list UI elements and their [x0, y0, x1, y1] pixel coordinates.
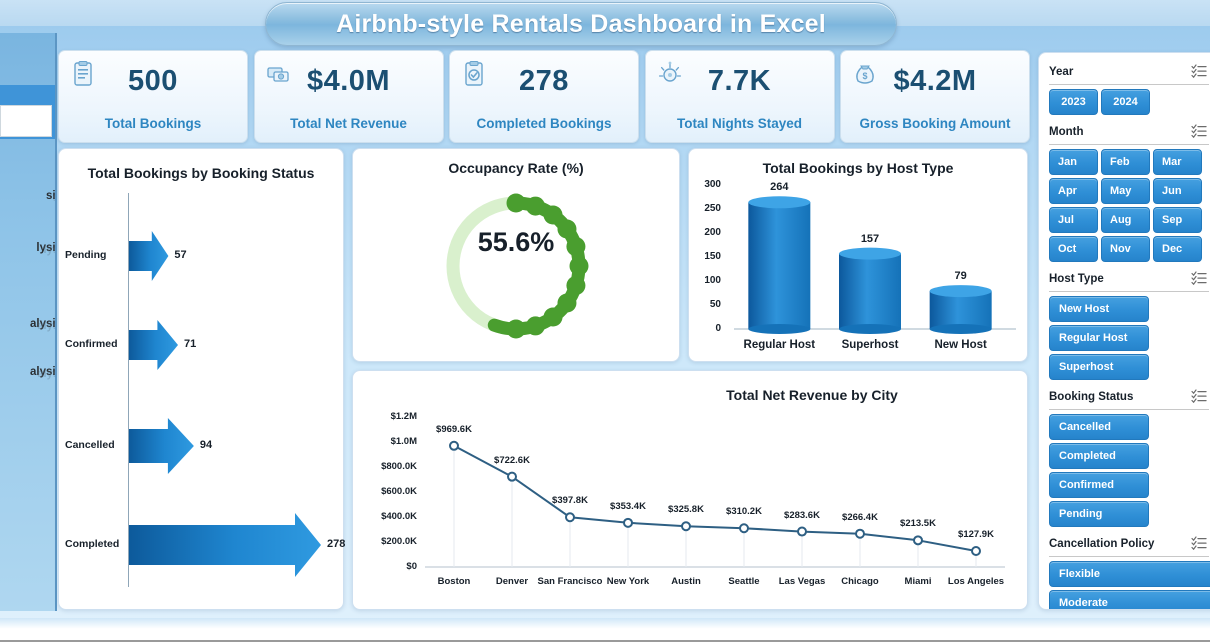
slicer-option-month-sep[interactable]: Sep	[1153, 207, 1202, 233]
host-ytick-0: 0	[689, 323, 721, 334]
sidebar-item-1-shadow: lysis	[8, 244, 57, 256]
kpi-label-1: Total Net Revenue	[255, 116, 443, 131]
slicer-option-month-jun[interactable]: Jun	[1153, 178, 1202, 204]
chart-occupancy-rate: Occupancy Rate (%) 55.6%	[352, 148, 680, 362]
slicer-header-month: Month	[1049, 121, 1210, 143]
slicer-option-month-nov[interactable]: Nov	[1101, 236, 1150, 262]
revenue-data-label-2: $397.8K	[538, 495, 602, 506]
revenue-xtick-9: Los Angeles	[940, 576, 1012, 587]
host-bar-category-2: New Host	[916, 339, 1006, 351]
revenue-ytick-0: $0	[359, 561, 417, 572]
status-bar-label-0: Pending	[65, 249, 125, 261]
status-bar-value-0: 57	[174, 249, 186, 261]
kpi-label-0: Total Bookings	[59, 116, 247, 131]
host-bar-value-1: 157	[838, 233, 902, 245]
revenue-ytick-1: $200.0K	[359, 536, 417, 547]
chart-title-occupancy-rate: Occupancy Rate (%)	[353, 160, 679, 176]
host-ytick-5: 250	[689, 203, 721, 214]
revenue-ytick-4: $800.0K	[359, 461, 417, 472]
host-ytick-4: 200	[689, 227, 721, 238]
status-bar-value-2: 94	[200, 439, 212, 451]
slicer-options-month: JanFebMarAprMayJunJulAugSepOctNovDec	[1049, 149, 1210, 262]
slicer-options-cancellation-policy: FlexibleModerateStrictSuper Strict	[1049, 561, 1210, 610]
revenue-data-label-4: $325.8K	[654, 504, 718, 515]
multi-select-icon[interactable]	[1191, 271, 1207, 285]
slicer-option-month-may[interactable]: May	[1101, 178, 1150, 204]
revenue-ytick-2: $400.0K	[359, 511, 417, 522]
revenue-data-label-9: $127.9K	[944, 529, 1008, 540]
revenue-data-label-5: $310.2K	[712, 506, 776, 517]
slicer-header-host-type: Host Type	[1049, 268, 1210, 290]
slicer-option-booking-status-cancelled[interactable]: Cancelled	[1049, 414, 1149, 440]
kpi-label-4: Gross Booking Amount	[841, 116, 1029, 131]
host-bar-category-0: Regular Host	[734, 339, 824, 351]
revenue-ytick-5: $1.0M	[359, 436, 417, 447]
slicer-option-month-jul[interactable]: Jul	[1049, 207, 1098, 233]
slicer-header-cancellation-policy: Cancellation Policy	[1049, 533, 1210, 555]
slicer-divider-year	[1049, 84, 1209, 85]
slicer-group-cancellation-policy: Cancellation PolicyFlexibleModerateStric…	[1049, 533, 1210, 610]
kpi-value-3: 7.7K	[646, 65, 834, 98]
left-sidebar: sis sis lysis lysis alysis alysis alysis…	[0, 33, 57, 611]
slicer-options-host-type: New HostRegular HostSuperhost	[1049, 296, 1210, 380]
slicer-title-booking-status: Booking Status	[1049, 391, 1133, 403]
status-bar-value-3: 278	[327, 538, 345, 550]
host-bar-value-2: 79	[929, 270, 993, 282]
host-ytick-6: 300	[689, 179, 721, 190]
kpi-value-1: $4.0M	[255, 65, 443, 98]
kpi-value-0: 500	[59, 65, 247, 98]
kpi-label-2: Completed Bookings	[450, 116, 638, 131]
sidebar-item-3-shadow: alysis	[8, 368, 57, 380]
slicer-divider-month	[1049, 144, 1209, 145]
slicer-option-month-feb[interactable]: Feb	[1101, 149, 1150, 175]
slicer-option-year-2023[interactable]: 2023	[1049, 89, 1098, 115]
occupancy-donut-ring	[427, 181, 605, 351]
slicer-option-booking-status-confirmed[interactable]: Confirmed	[1049, 472, 1149, 498]
host-ytick-2: 100	[689, 275, 721, 286]
slicer-group-booking-status: Booking StatusCancelledCompletedConfirme…	[1049, 386, 1210, 527]
kpi-card-completed-bookings[interactable]: 278Completed Bookings	[449, 50, 639, 143]
kpi-card-gross-booking-amount[interactable]: $$4.2MGross Booking Amount	[840, 50, 1030, 143]
slicer-header-year: Year	[1049, 61, 1210, 83]
occupancy-donut	[427, 181, 605, 356]
slicer-option-cancellation-policy-flexible[interactable]: Flexible	[1049, 561, 1210, 587]
slicer-option-month-oct[interactable]: Oct	[1049, 236, 1098, 262]
slicer-group-host-type: Host TypeNew HostRegular HostSuperhost	[1049, 268, 1210, 380]
kpi-value-4: $4.2M	[841, 65, 1029, 98]
revenue-ytick-3: $600.0K	[359, 486, 417, 497]
slicer-options-booking-status: CancelledCompletedConfirmedPending	[1049, 414, 1210, 527]
dashboard-root: sis sis lysis lysis alysis alysis alysis…	[0, 0, 1210, 642]
revenue-data-label-0: $969.6K	[422, 424, 486, 435]
sidebar-item-2-shadow: alysis	[8, 320, 57, 332]
multi-select-icon[interactable]	[1191, 389, 1207, 403]
slicer-divider-booking-status	[1049, 409, 1209, 410]
host-type-bars	[689, 149, 1029, 363]
slicer-divider-cancellation-policy	[1049, 556, 1209, 557]
kpi-card-row: 500Total Bookings$4.0MTotal Net Revenue2…	[58, 50, 1030, 143]
host-ytick-1: 50	[689, 299, 721, 310]
chart-bookings-by-status: Total Bookings by Booking Status Pending…	[58, 148, 344, 610]
slicer-panel: Year20232024MonthJanFebMarAprMayJunJulAu…	[1038, 52, 1210, 610]
slicer-options-year: 20232024	[1049, 89, 1210, 115]
status-bar-label-2: Cancelled	[65, 439, 125, 451]
status-bar-value-1: 71	[184, 338, 196, 350]
revenue-data-label-8: $213.5K	[886, 518, 950, 529]
multi-select-icon[interactable]	[1191, 124, 1207, 138]
occupancy-center-value: 55.6%	[353, 227, 679, 258]
slicer-title-host-type: Host Type	[1049, 273, 1104, 285]
sidebar-item-0-shadow: sis	[8, 192, 57, 204]
slicer-title-year: Year	[1049, 66, 1073, 78]
sidebar-selected-item[interactable]	[0, 105, 52, 137]
host-bar-category-1: Superhost	[825, 339, 915, 351]
kpi-value-2: 278	[450, 65, 638, 98]
slicer-option-cancellation-policy-moderate[interactable]: Moderate	[1049, 590, 1210, 610]
slicer-option-host-type-superhost[interactable]: Superhost	[1049, 354, 1149, 380]
revenue-ytick-6: $1.2M	[359, 411, 417, 422]
kpi-card-total-nights-stayed[interactable]: 7.7KTotal Nights Stayed	[645, 50, 835, 143]
kpi-card-total-bookings[interactable]: 500Total Bookings	[58, 50, 248, 143]
slicer-option-host-type-regular-host[interactable]: Regular Host	[1049, 325, 1149, 351]
kpi-card-total-net-revenue[interactable]: $4.0MTotal Net Revenue	[254, 50, 444, 143]
chart-bookings-by-host-type: Total Bookings by Host Type 050100150200…	[688, 148, 1028, 362]
slicer-option-host-type-new-host[interactable]: New Host	[1049, 296, 1149, 322]
slicer-option-month-jan[interactable]: Jan	[1049, 149, 1098, 175]
chart-net-revenue-by-city: Total Net Revenue by City $0$200.0K$400.…	[352, 370, 1028, 610]
slicer-group-month: MonthJanFebMarAprMayJunJulAugSepOctNovDe…	[1049, 121, 1210, 262]
revenue-data-label-7: $266.4K	[828, 512, 892, 523]
slicer-option-month-aug[interactable]: Aug	[1101, 207, 1150, 233]
slicer-group-year: Year20232024	[1049, 61, 1210, 115]
slicer-header-booking-status: Booking Status	[1049, 386, 1210, 408]
slicer-title-cancellation-policy: Cancellation Policy	[1049, 538, 1154, 550]
window-bottom-strip	[0, 618, 1210, 642]
page-title: Airbnb-style Rentals Dashboard in Excel	[336, 10, 826, 39]
host-bar-value-0: 264	[747, 181, 811, 193]
revenue-data-label-1: $722.6K	[480, 455, 544, 466]
slicer-option-month-apr[interactable]: Apr	[1049, 178, 1098, 204]
slicer-option-month-dec[interactable]: Dec	[1153, 236, 1202, 262]
revenue-data-label-3: $353.4K	[596, 501, 660, 512]
slicer-option-year-2024[interactable]: 2024	[1101, 89, 1150, 115]
dashboard-title-banner: Airbnb-style Rentals Dashboard in Excel	[265, 2, 897, 46]
multi-select-icon[interactable]	[1191, 536, 1207, 550]
slicer-divider-host-type	[1049, 291, 1209, 292]
status-bar-label-3: Completed	[65, 538, 125, 550]
slicer-title-month: Month	[1049, 126, 1083, 138]
kpi-label-3: Total Nights Stayed	[646, 116, 834, 131]
host-ytick-3: 150	[689, 251, 721, 262]
slicer-option-booking-status-pending[interactable]: Pending	[1049, 501, 1149, 527]
slicer-option-month-mar[interactable]: Mar	[1153, 149, 1202, 175]
multi-select-icon[interactable]	[1191, 64, 1207, 78]
revenue-line-series	[353, 371, 1029, 611]
slicer-option-booking-status-completed[interactable]: Completed	[1049, 443, 1149, 469]
status-bar-label-1: Confirmed	[65, 338, 125, 350]
revenue-data-label-6: $283.6K	[770, 510, 834, 521]
